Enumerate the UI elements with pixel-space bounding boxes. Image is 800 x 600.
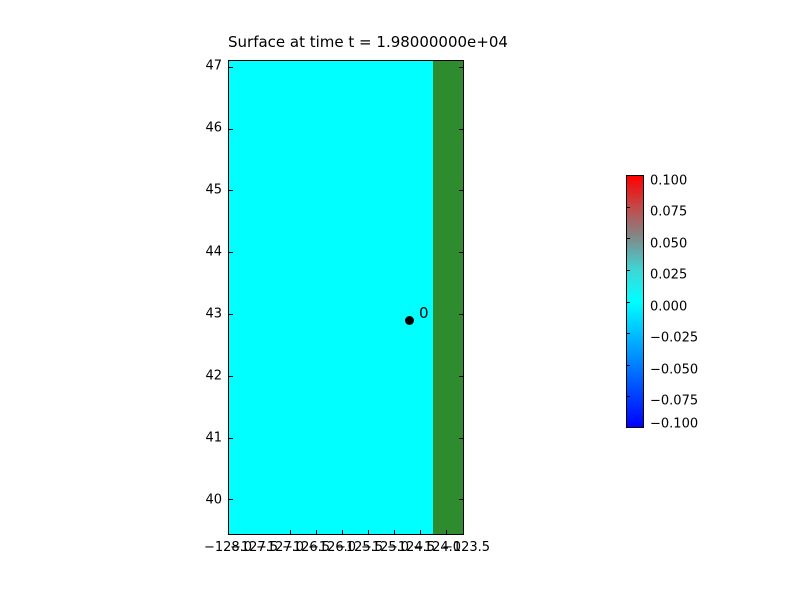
- colorbar-label: 0.025: [650, 268, 687, 283]
- xtick-mark: [316, 530, 317, 534]
- colorbar-label: 0.050: [650, 237, 687, 252]
- colorbar-tick: [626, 270, 630, 271]
- station-marker-0[interactable]: [405, 316, 414, 325]
- ytick-mark-right: [459, 67, 463, 68]
- ytick-mark: [229, 438, 233, 439]
- xtick-mark: [394, 530, 395, 534]
- ytick-mark-right: [459, 190, 463, 191]
- ytick-mark: [229, 376, 233, 377]
- yticklabel: 45: [205, 183, 222, 198]
- plot-axes[interactable]: 0: [228, 60, 464, 535]
- colorbar-label: 0.075: [650, 205, 687, 220]
- yticklabel: 43: [205, 307, 222, 322]
- ytick-mark: [229, 499, 233, 500]
- ytick-mark-right: [459, 252, 463, 253]
- xtick-mark: [368, 530, 369, 534]
- ytick-mark-right: [459, 376, 463, 377]
- colorbar-tick: [626, 207, 630, 208]
- yticklabel: 41: [205, 431, 222, 446]
- yticklabel: 40: [205, 493, 222, 508]
- matplotlib-figure: Surface at time t = 1.98000000e+04 0 −1: [0, 0, 800, 600]
- colorbar-tick: [626, 302, 630, 303]
- ytick-mark: [229, 314, 233, 315]
- colorbar-tick: [626, 396, 630, 397]
- xtick-mark: [342, 530, 343, 534]
- ytick-mark-right: [459, 438, 463, 439]
- yticklabel: 47: [205, 59, 222, 74]
- colorbar-tick: [626, 365, 630, 366]
- colorbar-label: −0.100: [650, 417, 698, 432]
- yticklabel: 42: [205, 369, 222, 384]
- ytick-mark-right: [459, 129, 463, 130]
- yticklabel: 46: [205, 121, 222, 136]
- colorbar-label: 0.000: [650, 300, 687, 315]
- xtick-mark: [420, 530, 421, 534]
- ytick-mark-right: [459, 499, 463, 500]
- colorbar-label: −0.050: [650, 363, 698, 378]
- ytick-mark-right: [459, 314, 463, 315]
- ocean-surface-field: [229, 61, 433, 534]
- colorbar[interactable]: [626, 175, 644, 428]
- ytick-mark: [229, 129, 233, 130]
- page-title: Surface at time t = 1.98000000e+04: [228, 33, 464, 51]
- yticklabel: 44: [205, 245, 222, 260]
- colorbar-tick: [626, 333, 630, 334]
- ytick-mark: [229, 252, 233, 253]
- colorbar-label: −0.025: [650, 331, 698, 346]
- colorbar-tick: [626, 238, 630, 239]
- station-label-0: 0: [419, 306, 429, 321]
- ytick-mark: [229, 67, 233, 68]
- ytick-mark: [229, 190, 233, 191]
- colorbar-label: 0.100: [650, 174, 687, 189]
- xtick-mark: [446, 530, 447, 534]
- xticklabel: −123.5: [442, 540, 490, 555]
- land-mask-region: [433, 61, 463, 534]
- xtick-mark: [290, 530, 291, 534]
- colorbar-label: −0.075: [650, 394, 698, 409]
